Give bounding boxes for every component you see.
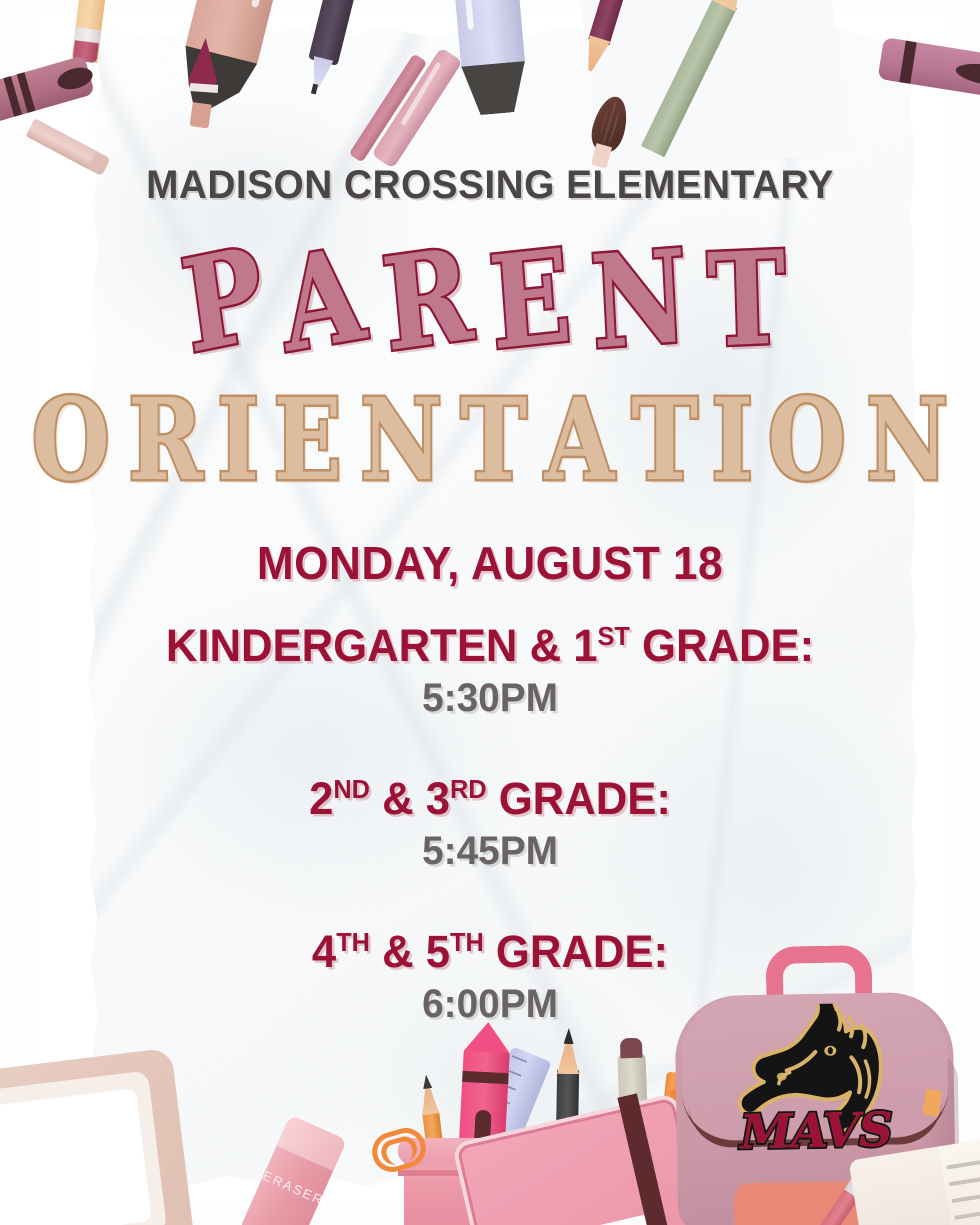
- school-name-heading: MADISON CROSSING ELEMENTARY: [15, 163, 966, 208]
- session-grade-ordinal: TH: [336, 927, 370, 957]
- session-grade-suffix: GRADE:: [487, 773, 671, 824]
- session-time: 6:00PM: [15, 982, 966, 1027]
- session-grade-suffix: GRADE:: [630, 620, 814, 671]
- session-grade-label: 2ND & 3RD GRADE:: [15, 773, 966, 825]
- session-grade-ordinal: ND: [333, 774, 370, 804]
- session-grade-mid: & 3: [370, 773, 450, 824]
- session-grade-label: 4TH & 5TH GRADE:: [15, 926, 966, 978]
- session-grade-suffix: GRADE:: [484, 926, 668, 977]
- session-time: 5:30PM: [15, 676, 966, 721]
- flyer-poster: MADISON CROSSING ELEMENTARY PARENT ORIEN…: [0, 0, 980, 1225]
- poster-content: MADISON CROSSING ELEMENTARY PARENT ORIEN…: [0, 0, 980, 1225]
- session-grade-ordinal-2: RD: [450, 774, 487, 804]
- session-grade-mid: & 5: [370, 926, 450, 977]
- headline-parent-glyphs: PARENT: [184, 236, 796, 364]
- session-fourth-fifth: 4TH & 5TH GRADE: 6:00PM: [0, 926, 980, 1027]
- session-second-third: 2ND & 3RD GRADE: 5:45PM: [0, 773, 980, 874]
- session-grade-ordinal: ST: [598, 621, 630, 651]
- session-grade-label: KINDERGARTEN & 1ST GRADE:: [15, 620, 966, 672]
- headline-parent: PARENT: [0, 236, 980, 396]
- session-time: 5:45PM: [15, 829, 966, 874]
- session-grade-text: 2: [309, 773, 333, 824]
- event-date: MONDAY, AUGUST 18: [20, 536, 961, 590]
- session-list: KINDERGARTEN & 1ST GRADE: 5:30PM 2ND & 3…: [0, 620, 980, 1027]
- session-grade-ordinal-2: TH: [450, 927, 484, 957]
- session-kindergarten-first: KINDERGARTEN & 1ST GRADE: 5:30PM: [0, 620, 980, 721]
- session-grade-text: 4: [312, 926, 336, 977]
- session-grade-text: KINDERGARTEN & 1: [166, 620, 598, 671]
- headline-orientation: ORIENTATION: [0, 385, 980, 497]
